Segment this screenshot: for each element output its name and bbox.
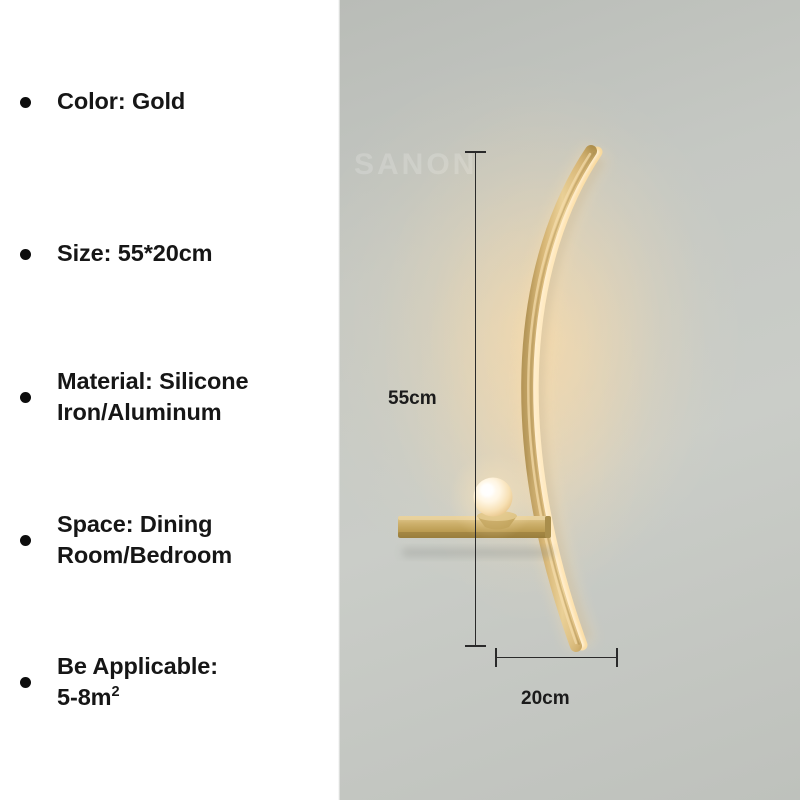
spec-item-label: Space: Dining Room/Bedroom	[57, 509, 232, 571]
square-meter-superscript: 2	[111, 684, 119, 700]
bullet-icon	[20, 535, 31, 546]
bullet-icon	[20, 249, 31, 260]
bullet-icon	[20, 97, 31, 108]
spec-item-label: Material: Silicone Iron/Aluminum	[57, 366, 248, 428]
height-dimension-label: 55cm	[388, 388, 437, 410]
spec-list-item: Size: 55*20cm	[0, 238, 340, 270]
height-dimension-cap-bottom	[465, 645, 486, 647]
height-dimension-cap-top	[465, 151, 486, 153]
height-dimension-line	[475, 152, 476, 646]
spec-item-label: Size: 55*20cm	[57, 238, 212, 269]
specification-panel: Color: Gold Size: 55*20cm Material: Sili…	[0, 0, 340, 800]
spec-list-item: Material: Silicone Iron/Aluminum	[0, 365, 340, 429]
product-spec-page: Color: Gold Size: 55*20cm Material: Sili…	[0, 0, 800, 800]
bullet-icon	[20, 677, 31, 688]
width-dimension-label: 20cm	[521, 688, 570, 710]
bullet-icon	[20, 392, 31, 403]
width-dimension-line	[495, 657, 617, 658]
spec-list-item: Space: Dining Room/Bedroom	[0, 508, 340, 572]
spec-list-item: Be Applicable: 5-8m2	[0, 650, 340, 714]
spec-item-label: Be Applicable: 5-8m	[57, 653, 218, 710]
spec-item-label-applicable: Be Applicable: 5-8m2	[57, 651, 218, 713]
product-photo: SANON	[340, 0, 800, 800]
width-dimension-cap-left	[495, 648, 497, 667]
width-dimension-cap-right	[616, 648, 618, 667]
spec-list-item: Color: Gold	[0, 86, 340, 118]
spec-item-label: Color: Gold	[57, 86, 185, 117]
